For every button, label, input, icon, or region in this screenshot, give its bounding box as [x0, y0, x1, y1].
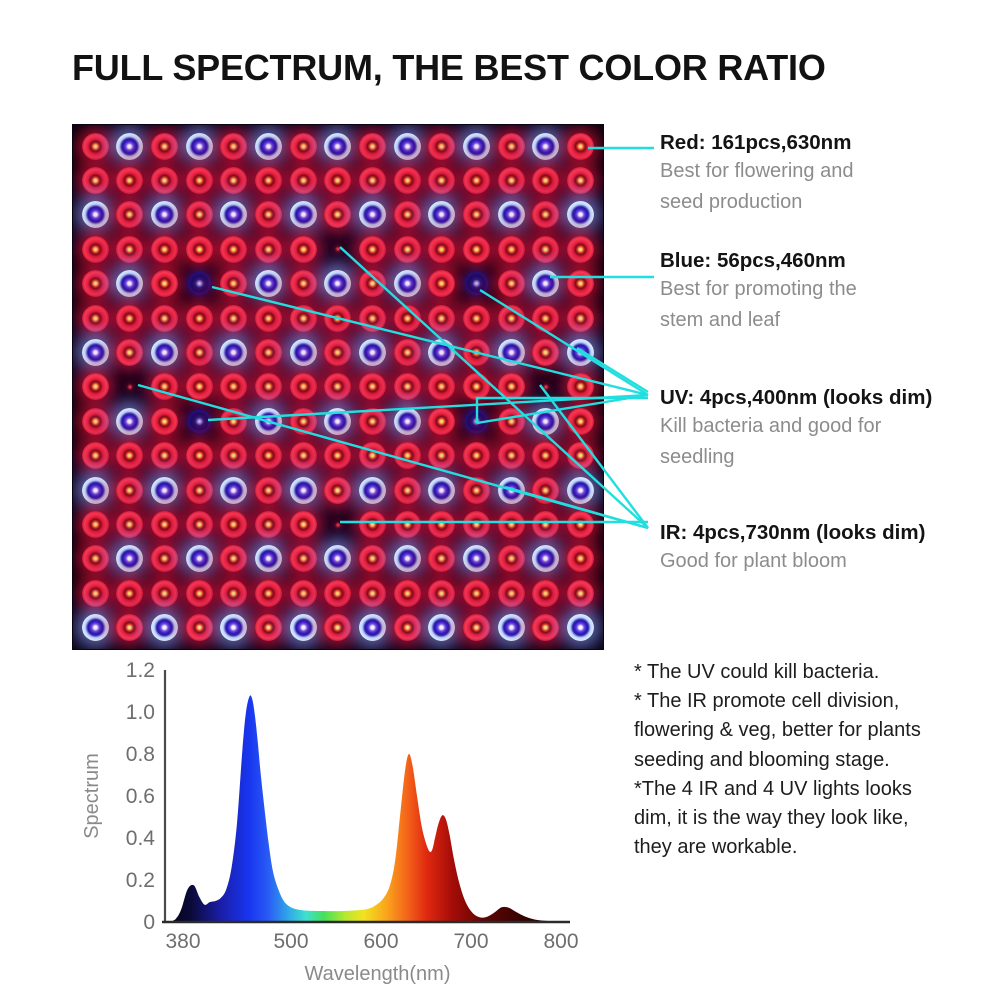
led-red-glow: [428, 236, 455, 263]
led-blue-glow: [532, 545, 559, 572]
led-red: [390, 370, 425, 404]
led-blue: [425, 473, 460, 507]
led-red-glow: [394, 339, 421, 366]
led-red: [459, 439, 494, 473]
led-red: [286, 542, 321, 576]
led-blue-glow: [324, 408, 351, 435]
led-red-glow: [290, 511, 317, 538]
led-red-glow: [394, 236, 421, 263]
led-red: [147, 129, 182, 163]
led-ir-dim-glow: [335, 522, 341, 528]
led-blue: [321, 404, 356, 438]
led-red: [355, 507, 390, 541]
led-red-glow: [290, 408, 317, 435]
led-blue: [494, 473, 529, 507]
led-red-glow: [463, 339, 490, 366]
led-red: [321, 198, 356, 232]
led-red-glow: [498, 236, 525, 263]
led-blue: [113, 267, 148, 301]
led-red: [459, 301, 494, 335]
led-red: [425, 542, 460, 576]
led-blue-glow: [394, 545, 421, 572]
led-red: [355, 370, 390, 404]
led-red: [459, 163, 494, 197]
led-red-glow: [255, 477, 282, 504]
led-red: [182, 232, 217, 266]
led-blue-glow: [220, 614, 247, 641]
led-red-glow: [324, 305, 351, 332]
led-red: [459, 576, 494, 610]
led-blue: [78, 611, 113, 645]
led-blue-glow: [463, 133, 490, 160]
led-blue-glow: [324, 270, 351, 297]
led-red: [459, 611, 494, 645]
led-red-glow: [220, 408, 247, 435]
led-uv-dim-glow: [188, 410, 211, 433]
led-blue-glow: [394, 408, 421, 435]
led-red: [286, 267, 321, 301]
led-red: [563, 370, 598, 404]
led-red-glow: [532, 201, 559, 228]
led-red-glow: [255, 236, 282, 263]
led-red: [563, 439, 598, 473]
led-blue-glow: [186, 133, 213, 160]
led-red-glow: [151, 270, 178, 297]
led-red-glow: [463, 614, 490, 641]
led-red: [494, 439, 529, 473]
led-blue-glow: [151, 614, 178, 641]
led-red-glow: [255, 167, 282, 194]
annotation-uv-body-line-1: Kill bacteria and good for: [660, 411, 932, 442]
led-red: [355, 163, 390, 197]
led-blue: [78, 198, 113, 232]
led-red-glow: [186, 580, 213, 607]
led-red: [563, 576, 598, 610]
led-red-glow: [324, 614, 351, 641]
annotation-blue-heading: Blue: 56pcs,460nm: [660, 248, 857, 274]
led-red-glow: [82, 236, 109, 263]
led-red: [563, 267, 598, 301]
led-red-glow: [463, 477, 490, 504]
led-red-glow: [428, 408, 455, 435]
led-red: [147, 542, 182, 576]
led-red-glow: [498, 545, 525, 572]
led-blue-glow: [324, 545, 351, 572]
led-red: [321, 576, 356, 610]
led-red-glow: [82, 545, 109, 572]
led-red-glow: [532, 167, 559, 194]
led-red: [286, 301, 321, 335]
y-tick-label: 0.4: [126, 827, 156, 850]
led-red-glow: [116, 442, 143, 469]
led-red-glow: [186, 477, 213, 504]
led-red-glow: [82, 408, 109, 435]
led-red-glow: [220, 305, 247, 332]
led-blue: [459, 542, 494, 576]
led-blue-glow: [567, 201, 594, 228]
led-blue-glow: [82, 614, 109, 641]
led-red-glow: [532, 614, 559, 641]
led-red-glow: [463, 167, 490, 194]
led-red: [251, 335, 286, 369]
led-blue-glow: [151, 339, 178, 366]
led-red-glow: [567, 442, 594, 469]
led-red: [321, 370, 356, 404]
led-red-glow: [567, 511, 594, 538]
led-red-glow: [567, 167, 594, 194]
led-red: [78, 439, 113, 473]
led-red-glow: [463, 511, 490, 538]
page-title: FULL SPECTRUM, THE BEST COLOR RATIO: [72, 47, 826, 89]
chart-plot-area: [170, 695, 566, 922]
led-red: [113, 473, 148, 507]
led-blue: [113, 404, 148, 438]
led-red: [251, 163, 286, 197]
annotation-red-body-line-2: seed production: [660, 187, 853, 218]
x-axis-ticks: 380500600700800: [165, 930, 578, 953]
led-red: [251, 439, 286, 473]
led-red-glow: [428, 545, 455, 572]
led-red-glow: [324, 373, 351, 400]
led-ir-dim: [529, 370, 564, 404]
led-red: [78, 542, 113, 576]
led-red-glow: [359, 442, 386, 469]
led-blue: [251, 542, 286, 576]
led-red: [390, 576, 425, 610]
led-red: [113, 198, 148, 232]
led-uv-dim-glow: [465, 410, 488, 433]
led-red: [321, 611, 356, 645]
led-red: [217, 370, 252, 404]
led-red: [217, 267, 252, 301]
led-ir-dim: [321, 232, 356, 266]
led-blue: [494, 198, 529, 232]
led-red-glow: [324, 167, 351, 194]
led-red: [217, 439, 252, 473]
led-red: [78, 507, 113, 541]
led-blue: [355, 473, 390, 507]
led-red: [182, 163, 217, 197]
y-tick-label: 1.2: [126, 659, 155, 682]
led-red-glow: [220, 545, 247, 572]
led-blue: [251, 267, 286, 301]
y-tick-label: 0.2: [126, 869, 155, 892]
led-red-glow: [498, 580, 525, 607]
led-red-glow: [498, 408, 525, 435]
note-line-5: *The 4 IR and 4 UV lights looks: [634, 775, 994, 804]
led-blue-glow: [255, 270, 282, 297]
led-red: [147, 576, 182, 610]
led-red-glow: [394, 373, 421, 400]
led-blue: [286, 335, 321, 369]
led-uv-dim: [459, 267, 494, 301]
led-red-glow: [498, 442, 525, 469]
led-red: [355, 439, 390, 473]
led-blue-glow: [567, 477, 594, 504]
led-blue-glow: [394, 270, 421, 297]
led-red-glow: [428, 305, 455, 332]
spectrum-chart: 00.20.40.60.81.01.2 380500600700800 Wave…: [70, 652, 582, 990]
led-blue: [390, 542, 425, 576]
led-uv-dim: [182, 404, 217, 438]
led-blue: [217, 198, 252, 232]
led-blue-glow: [255, 408, 282, 435]
annotation-blue-body-line-1: Best for promoting the: [660, 274, 857, 305]
led-blue: [147, 611, 182, 645]
led-red-glow: [498, 305, 525, 332]
led-red: [217, 576, 252, 610]
led-red: [494, 129, 529, 163]
led-blue: [217, 611, 252, 645]
led-red: [182, 439, 217, 473]
led-blue: [251, 404, 286, 438]
led-blue: [217, 473, 252, 507]
led-red-glow: [394, 511, 421, 538]
led-red: [563, 404, 598, 438]
led-red-glow: [82, 133, 109, 160]
led-red-glow: [532, 236, 559, 263]
led-red-glow: [359, 545, 386, 572]
led-blue: [390, 267, 425, 301]
annotation-red: Red: 161pcs,630nm Best for flowering and…: [660, 130, 853, 218]
led-red-glow: [463, 201, 490, 228]
led-red-glow: [290, 373, 317, 400]
led-red: [251, 576, 286, 610]
led-red-glow: [186, 511, 213, 538]
led-red: [217, 232, 252, 266]
led-uv-dim: [459, 404, 494, 438]
led-red: [147, 439, 182, 473]
led-red: [494, 542, 529, 576]
led-red: [529, 163, 564, 197]
led-blue-glow: [428, 477, 455, 504]
led-blue-glow: [498, 201, 525, 228]
led-blue-glow: [532, 408, 559, 435]
note-line-3: flowering & veg, better for plants: [634, 716, 994, 745]
led-red: [113, 232, 148, 266]
led-red: [459, 335, 494, 369]
led-blue: [321, 542, 356, 576]
led-red: [494, 163, 529, 197]
led-red-glow: [532, 511, 559, 538]
led-red-glow: [116, 339, 143, 366]
led-red: [113, 163, 148, 197]
led-red-glow: [428, 270, 455, 297]
led-red-glow: [324, 339, 351, 366]
led-red-glow: [428, 167, 455, 194]
led-red-glow: [567, 270, 594, 297]
led-red: [78, 267, 113, 301]
led-red: [217, 129, 252, 163]
led-red-glow: [151, 167, 178, 194]
led-red: [113, 335, 148, 369]
led-red-glow: [82, 270, 109, 297]
led-blue-glow: [463, 545, 490, 572]
led-red-glow: [359, 236, 386, 263]
led-uv-dim-glow: [465, 272, 488, 295]
led-blue-glow: [82, 201, 109, 228]
led-red: [182, 301, 217, 335]
led-blue-glow: [151, 201, 178, 228]
led-red: [529, 439, 564, 473]
led-red: [459, 507, 494, 541]
led-blue: [217, 335, 252, 369]
led-grid: [73, 125, 603, 649]
led-blue: [529, 267, 564, 301]
led-red-glow: [255, 339, 282, 366]
note-line-1: * The UV could kill bacteria.: [634, 658, 994, 687]
led-red: [529, 611, 564, 645]
led-red-glow: [116, 477, 143, 504]
led-red-glow: [359, 270, 386, 297]
led-uv-dim: [182, 267, 217, 301]
led-red: [390, 611, 425, 645]
led-red: [425, 232, 460, 266]
led-red-glow: [359, 408, 386, 435]
led-red: [182, 576, 217, 610]
led-red-glow: [116, 236, 143, 263]
led-red: [147, 404, 182, 438]
led-red-glow: [463, 580, 490, 607]
led-blue: [321, 267, 356, 301]
x-tick-label: 600: [363, 930, 398, 953]
led-red-glow: [498, 511, 525, 538]
led-red: [529, 507, 564, 541]
led-red: [459, 473, 494, 507]
led-red: [217, 542, 252, 576]
led-red: [78, 576, 113, 610]
led-blue-glow: [394, 133, 421, 160]
led-red: [286, 232, 321, 266]
led-red-glow: [290, 442, 317, 469]
led-red-glow: [220, 511, 247, 538]
led-red: [217, 404, 252, 438]
led-red: [494, 507, 529, 541]
led-blue: [355, 335, 390, 369]
led-red-glow: [186, 614, 213, 641]
led-red-glow: [532, 339, 559, 366]
led-red-glow: [186, 442, 213, 469]
led-red: [494, 301, 529, 335]
led-red: [147, 232, 182, 266]
led-blue: [147, 473, 182, 507]
led-red-glow: [359, 511, 386, 538]
annotation-ir: IR: 4pcs,730nm (looks dim) Good for plan…: [660, 520, 925, 577]
annotation-red-body-line-1: Best for flowering and: [660, 156, 853, 187]
led-red: [217, 301, 252, 335]
led-red-glow: [255, 511, 282, 538]
led-red-glow: [567, 133, 594, 160]
led-red-glow: [255, 580, 282, 607]
led-blue-glow: [290, 339, 317, 366]
led-blue: [563, 335, 598, 369]
led-blue-glow: [567, 339, 594, 366]
led-red-glow: [532, 580, 559, 607]
led-red: [563, 507, 598, 541]
led-red-glow: [498, 133, 525, 160]
led-red-glow: [463, 236, 490, 263]
annotation-ir-body-line-1: Good for plant bloom: [660, 546, 925, 577]
led-red-glow: [255, 305, 282, 332]
led-blue: [355, 198, 390, 232]
x-tick-label: 380: [165, 930, 200, 953]
y-axis-label: Spectrum: [81, 753, 103, 839]
led-red-glow: [567, 305, 594, 332]
led-red-glow: [116, 201, 143, 228]
annotation-blue: Blue: 56pcs,460nm Best for promoting the…: [660, 248, 857, 336]
led-red: [286, 576, 321, 610]
led-red-glow: [428, 373, 455, 400]
led-panel-photo: [72, 124, 604, 650]
led-blue: [425, 611, 460, 645]
led-blue: [425, 335, 460, 369]
led-blue: [321, 129, 356, 163]
led-red-glow: [394, 477, 421, 504]
y-tick-label: 0: [143, 911, 155, 934]
led-blue-glow: [116, 270, 143, 297]
led-red-glow: [220, 167, 247, 194]
led-red: [425, 129, 460, 163]
led-ir-dim-glow: [543, 384, 549, 390]
led-red: [529, 335, 564, 369]
led-blue-glow: [220, 201, 247, 228]
led-red-glow: [394, 614, 421, 641]
led-red-glow: [220, 442, 247, 469]
led-red-glow: [255, 442, 282, 469]
led-red: [286, 439, 321, 473]
led-blue-glow: [532, 133, 559, 160]
led-red-glow: [255, 614, 282, 641]
led-red-glow: [290, 236, 317, 263]
led-blue-glow: [359, 614, 386, 641]
led-blue-glow: [220, 339, 247, 366]
led-red-glow: [359, 580, 386, 607]
led-red-glow: [82, 373, 109, 400]
led-red: [251, 507, 286, 541]
led-red-glow: [255, 373, 282, 400]
led-blue: [425, 198, 460, 232]
led-red: [494, 232, 529, 266]
led-blue-glow: [151, 477, 178, 504]
led-red-glow: [186, 201, 213, 228]
led-red-glow: [116, 305, 143, 332]
led-red: [321, 473, 356, 507]
led-red-glow: [394, 305, 421, 332]
led-red-glow: [186, 373, 213, 400]
led-red: [147, 267, 182, 301]
led-red-glow: [359, 167, 386, 194]
led-blue-glow: [186, 545, 213, 572]
annotation-uv-heading: UV: 4pcs,400nm (looks dim): [660, 385, 932, 411]
led-red: [529, 232, 564, 266]
led-red-glow: [359, 133, 386, 160]
note-line-2: * The IR promote cell division,: [634, 687, 994, 716]
led-blue: [78, 335, 113, 369]
led-red-glow: [116, 580, 143, 607]
led-red-glow: [116, 511, 143, 538]
led-red-glow: [82, 580, 109, 607]
led-red: [390, 439, 425, 473]
led-red-glow: [428, 511, 455, 538]
led-blue: [286, 473, 321, 507]
led-blue: [563, 198, 598, 232]
led-red: [251, 301, 286, 335]
led-red: [113, 611, 148, 645]
led-red-glow: [186, 236, 213, 263]
led-red-glow: [428, 442, 455, 469]
led-red: [321, 439, 356, 473]
led-red: [78, 301, 113, 335]
